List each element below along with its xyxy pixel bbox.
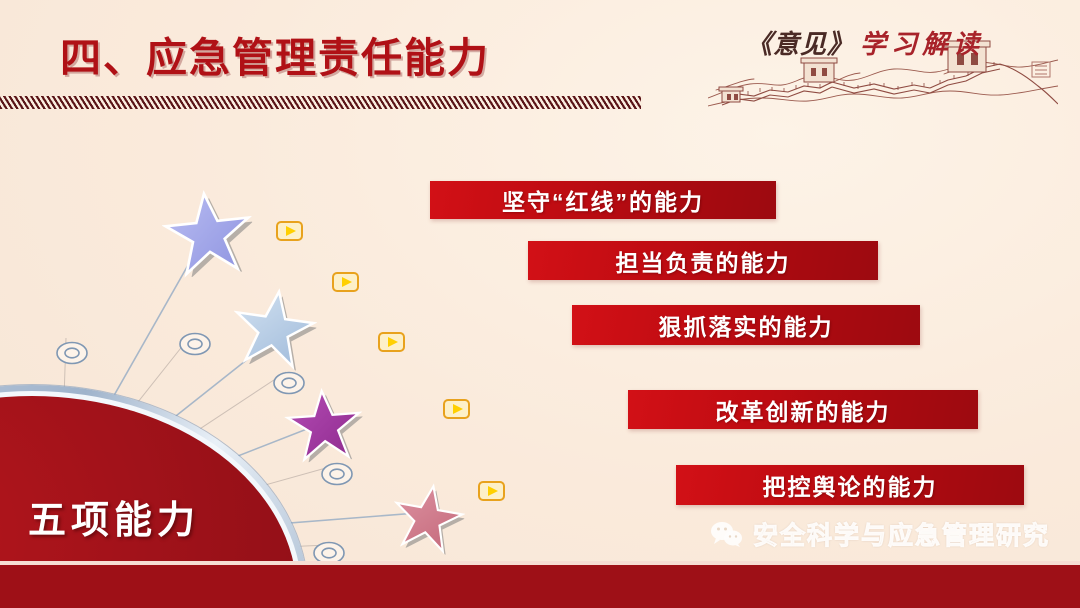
star-magenta [283, 385, 366, 463]
wechat-icon [709, 520, 743, 548]
header-caption-main: 学习解读 [860, 30, 984, 59]
slide-root: 四、应急管理责任能力 [0, 0, 1080, 608]
footer-band [0, 565, 1080, 608]
ring-mark-3-icon [272, 370, 306, 396]
watermark: 安全科学与应急管理研究 [709, 516, 1050, 552]
ring-mark-2-icon [178, 331, 212, 357]
play-badge-3-icon [378, 332, 405, 352]
page-title: 四、应急管理责任能力 [60, 24, 490, 84]
capability-bar-label: 坚守“红线”的能力 [502, 183, 704, 217]
capability-bar-label: 担当负责的能力 [616, 244, 791, 278]
capability-bar-label: 把控舆论的能力 [763, 468, 938, 502]
great-wall-illustration [708, 6, 1058, 118]
capability-bar-5[interactable]: 把控舆论的能力 [676, 465, 1024, 505]
capability-bar-1[interactable]: 坚守“红线”的能力 [430, 181, 776, 219]
ring-mark-4-icon [320, 461, 354, 487]
capability-bar-4[interactable]: 改革创新的能力 [628, 390, 978, 429]
play-badge-1-icon [276, 221, 303, 241]
play-badge-5-icon [478, 481, 505, 501]
header-caption: 《意见》学习解读 [746, 24, 984, 61]
capability-bar-3[interactable]: 狠抓落实的能力 [572, 305, 920, 345]
ring-mark-1-icon [55, 340, 89, 366]
play-badge-4-icon [443, 399, 470, 419]
hatched-divider [0, 96, 642, 109]
star-rose [387, 477, 470, 556]
capability-bar-2[interactable]: 担当负责的能力 [528, 241, 878, 280]
star-periwinkle [159, 186, 257, 280]
slide-header: 四、应急管理责任能力 [0, 0, 1080, 125]
watermark-text: 安全科学与应急管理研究 [753, 516, 1050, 552]
play-badge-2-icon [332, 272, 359, 292]
star-steel-blue [227, 283, 321, 373]
header-caption-bracketed: 《意见》 [746, 30, 854, 59]
capability-bar-label: 狠抓落实的能力 [659, 308, 834, 342]
capability-bar-label: 改革创新的能力 [716, 393, 891, 427]
hub-label: 五项能力 [28, 489, 200, 544]
